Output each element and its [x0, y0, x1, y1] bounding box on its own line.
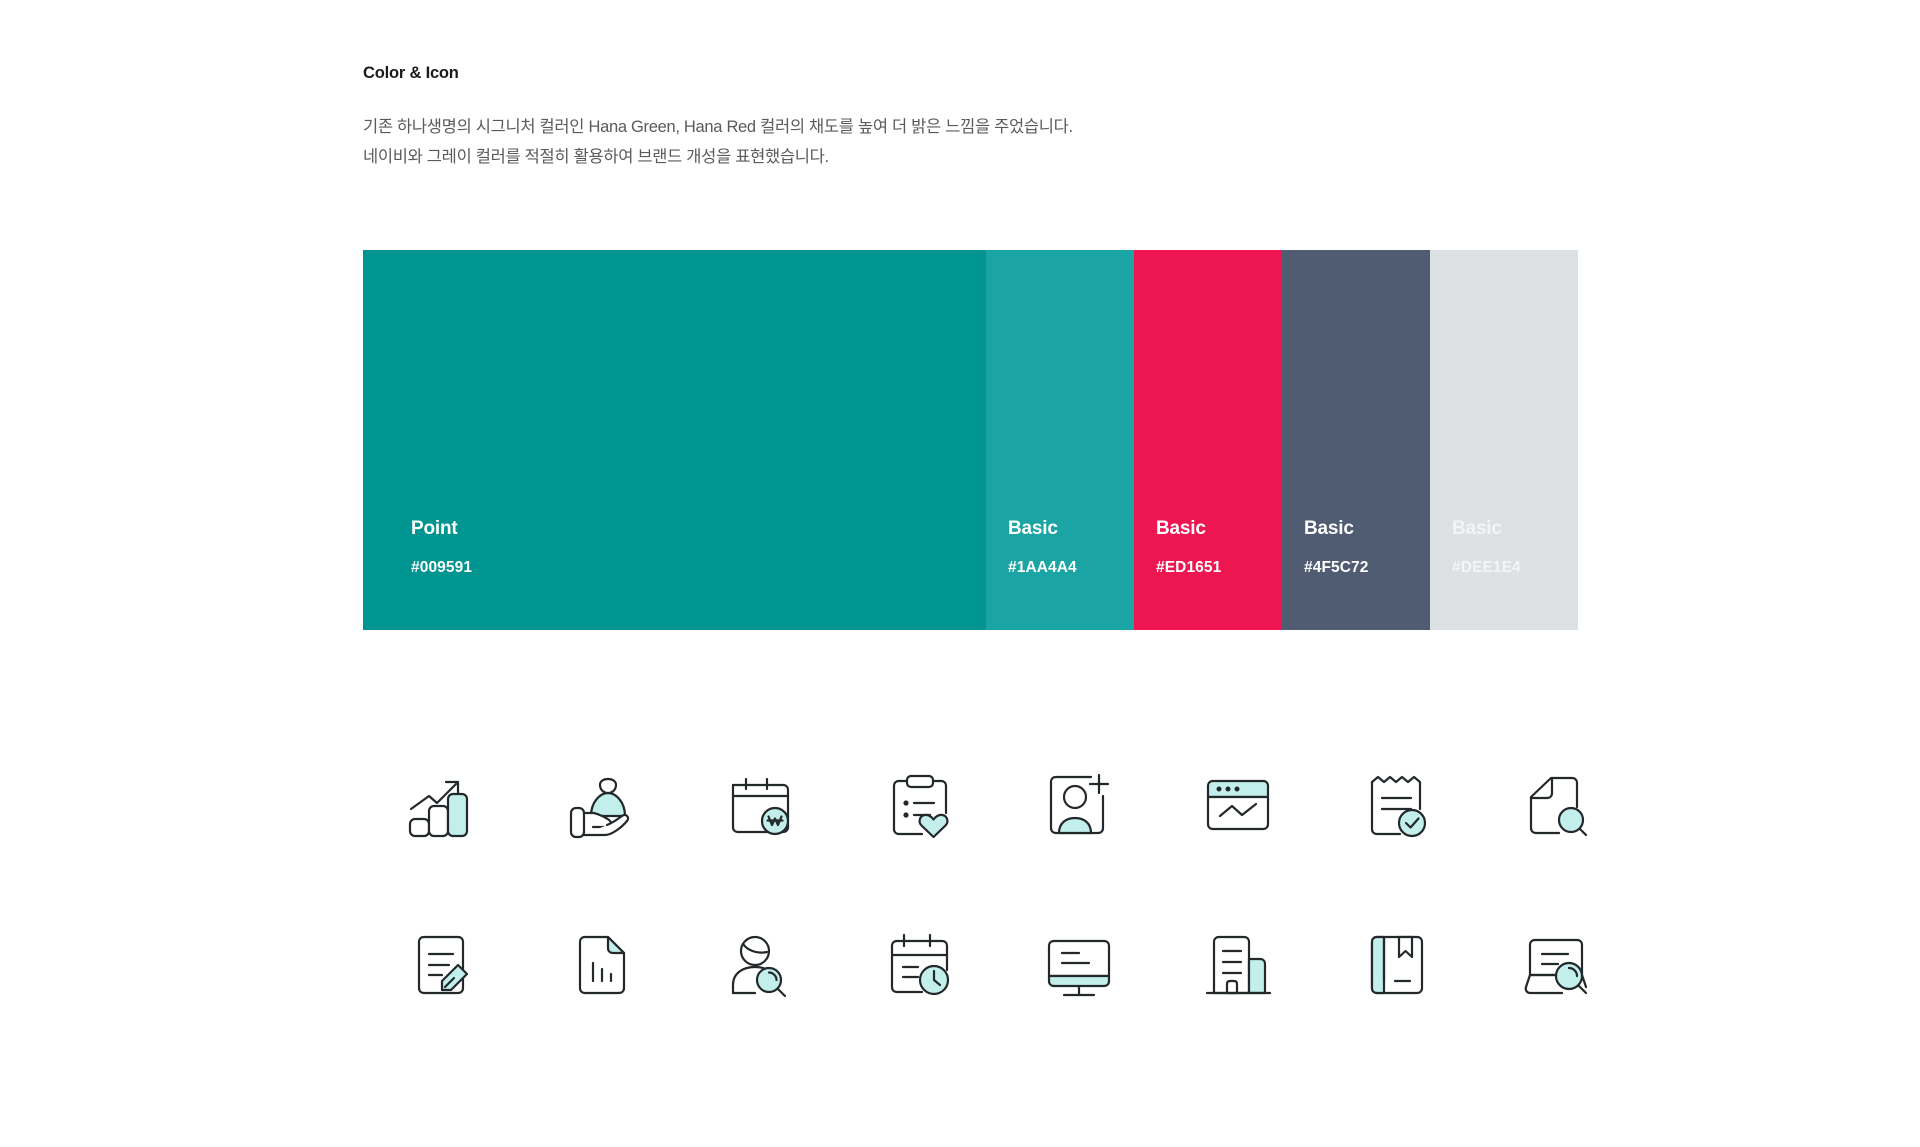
- icon-cell: [681, 725, 840, 885]
- icon-cell: [999, 885, 1158, 1045]
- swatch-role-label: Basic: [1304, 519, 1430, 538]
- document-search-icon: [1514, 763, 1598, 847]
- swatch-hex-label: #DEE1E4: [1452, 560, 1578, 576]
- color-swatch-basic-1aa4a4: Basic #1AA4A4: [986, 250, 1134, 630]
- swatch-role-label: Basic: [1008, 519, 1134, 538]
- user-search-icon: [719, 923, 803, 1007]
- swatch-role-label: Basic: [1156, 519, 1282, 538]
- growth-bar-chart-icon: [401, 763, 485, 847]
- icon-cell: [840, 885, 999, 1045]
- swatch-role-label: Basic: [1452, 519, 1578, 538]
- color-and-icon-page: Color & Icon 기존 하나생명의 시그니처 컬러인 Hana Gree…: [0, 0, 1920, 1147]
- icon-cell: [1158, 885, 1317, 1045]
- document-edit-icon: [401, 923, 485, 1007]
- browser-line-chart-icon: [1196, 763, 1280, 847]
- color-swatch-basic-4f5c72: Basic #4F5C72: [1282, 250, 1430, 630]
- icon-cell: [522, 725, 681, 885]
- laptop-search-icon: [1514, 923, 1598, 1007]
- calendar-clock-icon: [878, 923, 962, 1007]
- icon-cell: [681, 885, 840, 1045]
- icon-cell: [840, 725, 999, 885]
- document-bar-chart-icon: [560, 923, 644, 1007]
- icon-cell: [1476, 885, 1635, 1045]
- building-icon: [1196, 923, 1280, 1007]
- icon-cell: [363, 725, 522, 885]
- icon-cell: [522, 885, 681, 1045]
- swatch-hex-label: #ED1651: [1156, 560, 1282, 576]
- icon-cell: [1158, 725, 1317, 885]
- monitor-icon: [1037, 923, 1121, 1007]
- color-swatch-basic-ed1651: Basic #ED1651: [1134, 250, 1282, 630]
- icon-set: [363, 725, 1578, 1045]
- calendar-won-icon: [719, 763, 803, 847]
- receipt-check-icon: [1355, 763, 1439, 847]
- swatch-role-label: Point: [411, 519, 986, 538]
- icon-cell: [1476, 725, 1635, 885]
- hand-money-bag-icon: [560, 763, 644, 847]
- page-title: Color & Icon: [363, 64, 1563, 84]
- swatch-hex-label: #4F5C72: [1304, 560, 1430, 576]
- swatch-hex-label: #009591: [411, 560, 986, 576]
- book-bookmark-icon: [1355, 923, 1439, 1007]
- description-line-1: 기존 하나생명의 시그니처 컬러인 Hana Green, Hana Red 컬…: [363, 112, 1563, 142]
- add-user-icon: [1037, 763, 1121, 847]
- icon-cell: [1317, 885, 1476, 1045]
- swatch-hex-label: #1AA4A4: [1008, 560, 1134, 576]
- icon-cell: [1317, 725, 1476, 885]
- icon-cell: [999, 725, 1158, 885]
- icon-cell: [363, 885, 522, 1045]
- description-line-2: 네이비와 그레이 컬러를 적절히 활용하여 브랜드 개성을 표현했습니다.: [363, 142, 1563, 172]
- color-swatch-point: Point #009591: [363, 250, 986, 630]
- section-header: Color & Icon 기존 하나생명의 시그니처 컬러인 Hana Gree…: [363, 64, 1563, 172]
- clipboard-heart-icon: [878, 763, 962, 847]
- color-palette: Point #009591 Basic #1AA4A4 Basic #ED165…: [363, 250, 1578, 630]
- color-swatch-basic-dee1e4: Basic #DEE1E4: [1430, 250, 1578, 630]
